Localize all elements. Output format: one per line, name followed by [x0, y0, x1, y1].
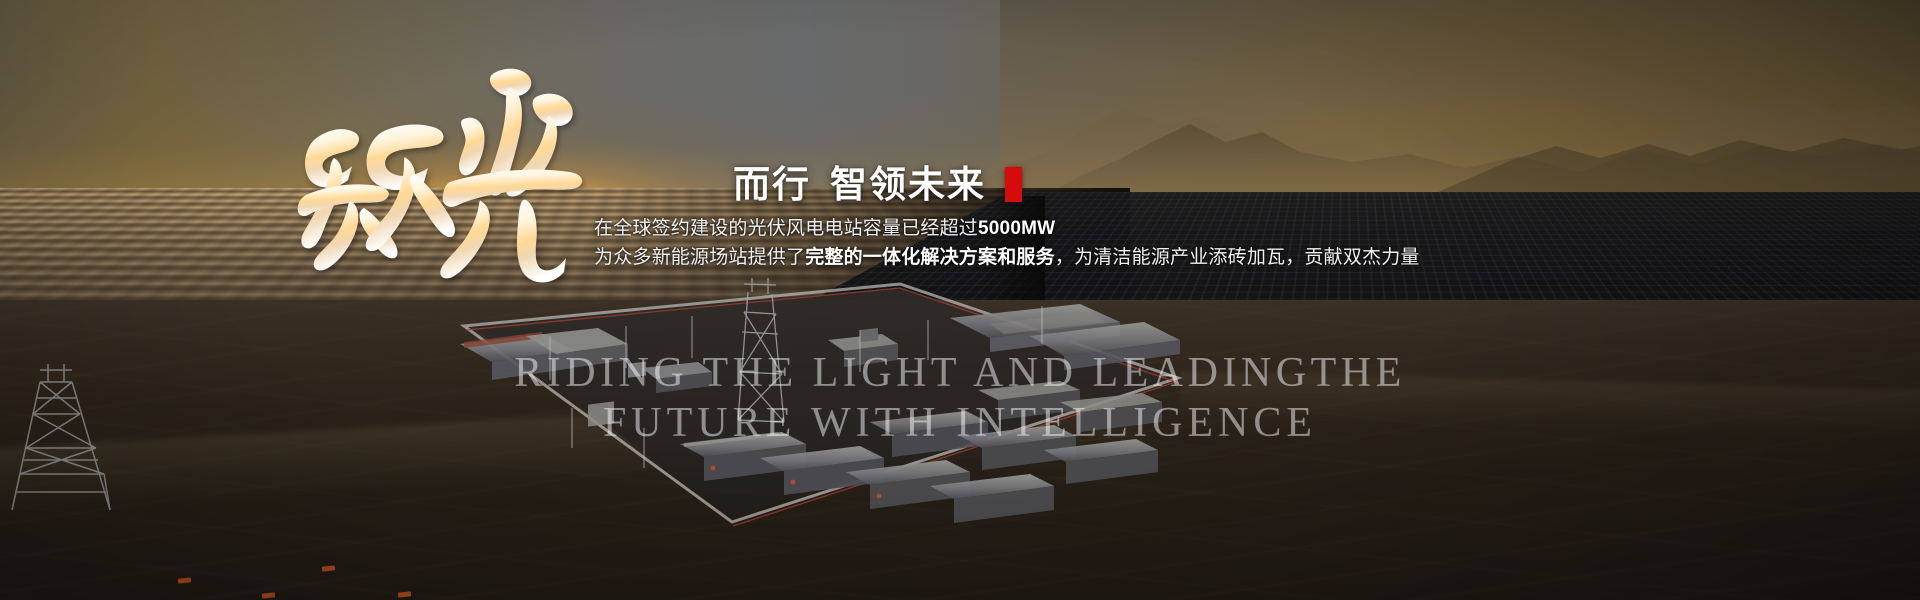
subtitle-line-2: 为众多新能源场站提供了完整的一体化解决方案和服务，为清洁能源产业添砖加瓦，贡献双… [594, 243, 1354, 272]
subtitle-2-highlight: 完整的一体化解决方案和服务 [805, 247, 1055, 268]
subtitle-line-1: 在全球签约建设的光伏风电电站容量已经超过5000MW [594, 214, 1354, 243]
calligraphy-logo [286, 62, 586, 282]
subtitle-1-text: 在全球签约建设的光伏风电电站容量已经超过 [594, 218, 978, 239]
subtitle-2-suffix: ，为清洁能源产业添砖加瓦，贡献双杰力量 [1055, 247, 1420, 268]
page-title: 而行 智领未来 [594, 160, 1354, 208]
headline-part-2: 智领未来 [830, 166, 986, 203]
red-accent-block [1005, 167, 1022, 202]
headline-part-1: 而行 [733, 166, 811, 203]
battery-storage-plant [430, 272, 1190, 532]
subtitle-2-prefix: 为众多新能源场站提供了 [594, 247, 805, 268]
hero-banner: 而行 智领未来 在全球签约建设的光伏风电电站容量已经超过5000MW 为众多新能… [0, 0, 1920, 600]
subtitle-1-highlight: 5000MW [978, 218, 1055, 239]
hero-text-block: 而行 智领未来 在全球签约建设的光伏风电电站容量已经超过5000MW 为众多新能… [594, 160, 1354, 273]
transmission-tower-icon [2, 352, 120, 512]
